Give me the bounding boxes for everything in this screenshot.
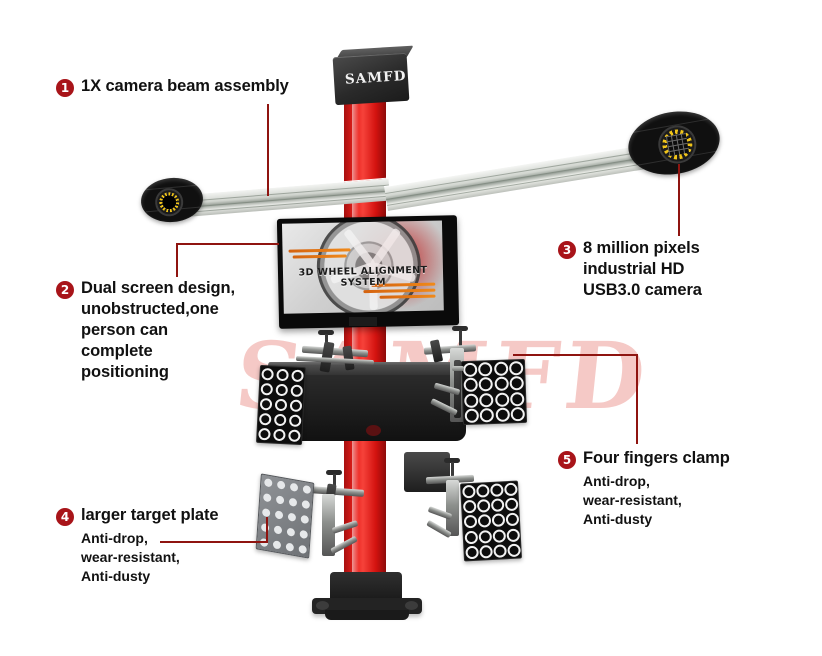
machine-knob [366, 425, 381, 436]
callout-1-badge: 1 [56, 79, 74, 97]
callout-3-badge: 3 [558, 241, 576, 259]
callout-5: 5 Four fingers clamp Anti-drop, wear-res… [558, 448, 783, 529]
leader-line-5-horizontal [513, 354, 638, 356]
leader-line-1 [267, 104, 269, 196]
monitor: 3D WHEEL ALIGNMENT SYSTEM [277, 215, 459, 329]
callout-4: 4 larger target plate Anti-drop, wear-re… [56, 505, 271, 586]
camera-pod-left [139, 175, 205, 224]
leader-line-2-horizontal [176, 243, 279, 245]
monitor-screen: 3D WHEEL ALIGNMENT SYSTEM [282, 220, 444, 313]
product-diagram: SAMFD [0, 0, 822, 656]
leader-line-2-vertical [176, 243, 178, 277]
clamp-upper-left [296, 330, 376, 376]
callout-5-title: Four fingers clamp [583, 448, 730, 469]
callout-4-sub: Anti-drop, wear-resistant, Anti-dusty [81, 529, 271, 586]
callout-2-badge: 2 [56, 281, 74, 299]
callout-5-badge: 5 [558, 451, 576, 469]
callout-4-badge: 4 [56, 508, 74, 526]
callout-1-title: 1X camera beam assembly [81, 76, 289, 97]
callout-3: 3 8 million pixels industrial HD USB3.0 … [558, 238, 773, 301]
camera-lens-left-icon [154, 187, 184, 217]
screen-title: 3D WHEEL ALIGNMENT SYSTEM [283, 264, 443, 289]
callout-3-title: 8 million pixels industrial HD USB3.0 ca… [583, 238, 702, 301]
leader-line-5-vertical [636, 354, 638, 444]
target-plate-upper-right [461, 359, 527, 425]
leader-line-3 [678, 164, 680, 236]
callout-1: 1 1X camera beam assembly [56, 76, 346, 97]
monitor-stand [349, 317, 377, 326]
column-base-foot [325, 610, 409, 620]
callout-2: 2 Dual screen design, unobstructed,one p… [56, 278, 271, 383]
target-plate-lower-right [460, 481, 522, 562]
callout-4-title: larger target plate [81, 505, 218, 526]
target-plate-arm-upper-right [452, 366, 464, 371]
callout-2-title: Dual screen design, unobstructed,one per… [81, 278, 235, 383]
callout-5-sub: Anti-drop, wear-resistant, Anti-dusty [583, 472, 783, 529]
